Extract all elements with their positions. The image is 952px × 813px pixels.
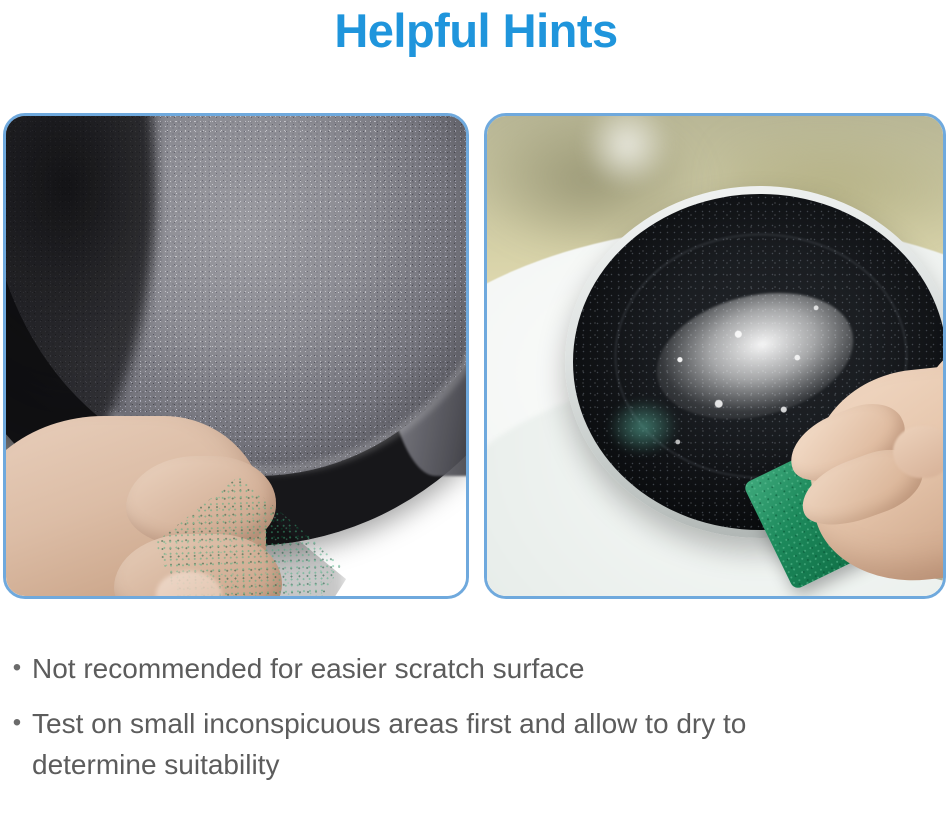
image-panel-left: [3, 113, 469, 599]
list-item: • Test on small inconspicuous areas firs…: [0, 703, 952, 785]
bullet-icon: •: [2, 703, 32, 743]
image-panel-right: [484, 113, 946, 599]
hint-text: Test on small inconspicuous areas first …: [32, 703, 847, 785]
hint-text: Not recommended for easier scratch surfa…: [32, 648, 584, 689]
bullet-icon: •: [2, 648, 32, 688]
image-gallery: [0, 113, 952, 601]
list-item: • Not recommended for easier scratch sur…: [0, 648, 952, 689]
photo-scrubbing-wok: [487, 116, 943, 596]
page-title: Helpful Hints: [0, 6, 952, 57]
thumb-bottom-right: [893, 426, 943, 478]
helpful-hints-page: Helpful Hints: [0, 0, 952, 813]
background-blur-highlight: [582, 116, 672, 190]
hints-list: • Not recommended for easier scratch sur…: [0, 648, 952, 799]
photo-pan-with-pad: [6, 116, 466, 596]
